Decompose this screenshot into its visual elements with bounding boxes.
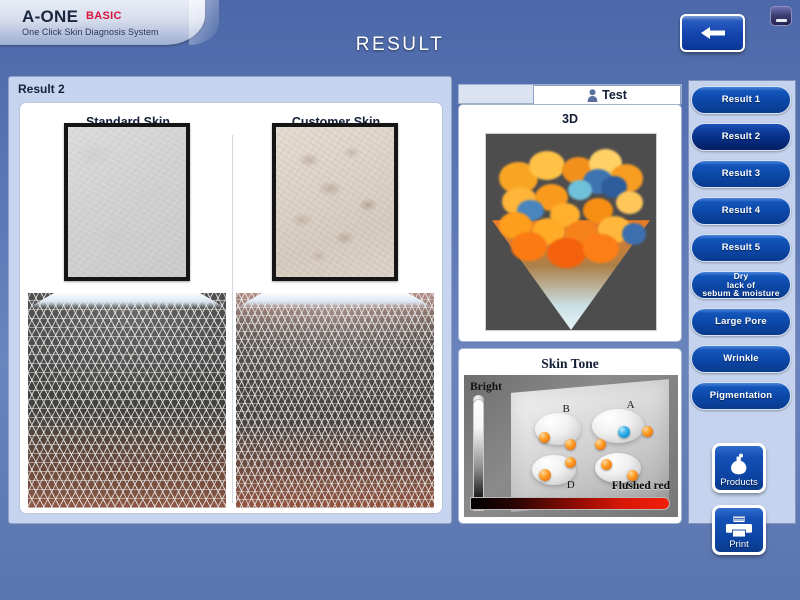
data-point xyxy=(601,459,612,470)
nav-label: Result 1 xyxy=(722,95,761,105)
nav-label: Dry lack of sebum & moisture xyxy=(702,272,779,299)
column-divider xyxy=(232,135,233,503)
bright-axis-gradient xyxy=(473,399,484,511)
sidebar-item-pigmentation[interactable]: Pigmentation xyxy=(691,382,791,410)
chart-floor xyxy=(511,379,669,512)
mesh-highlight xyxy=(236,293,434,508)
data-point xyxy=(539,432,550,443)
axis-label-bright: Bright xyxy=(470,381,502,393)
panel-3d-title: 3D xyxy=(459,112,681,126)
products-button[interactable]: Products xyxy=(712,443,766,493)
axis-label-flushed-red: Flushed red xyxy=(612,480,670,492)
products-label: Products xyxy=(715,477,763,488)
nav-label: Wrinkle xyxy=(723,354,759,364)
skin-3d-surface-render[interactable] xyxy=(485,133,657,331)
tab-strip: Test xyxy=(458,84,682,104)
panel-skin-tone-title: Skin Tone xyxy=(459,356,681,372)
nav-label: Result 3 xyxy=(722,169,761,179)
result-panel: Result 2 Standard Skin Customer Skin xyxy=(8,76,452,524)
sidebar-item-result-1[interactable]: Result 1 xyxy=(691,86,791,114)
print-label: Print xyxy=(715,539,763,550)
logo-name: A-ONE xyxy=(22,7,78,27)
logo-badge: BASIC xyxy=(86,10,122,22)
minimize-button[interactable] xyxy=(770,6,792,26)
sidebar-item-dry-sebum-moisture[interactable]: Dry lack of sebum & moisture xyxy=(691,271,791,299)
mesh-highlight xyxy=(28,293,226,508)
comparison-card: Standard Skin Customer Skin xyxy=(19,102,443,514)
sidebar-item-result-2[interactable]: Result 2 xyxy=(691,123,791,151)
title-bar: A-ONE BASIC One Click Skin Diagnosis Sys… xyxy=(0,0,800,72)
nav-label: Result 2 xyxy=(722,132,761,142)
nav-label: Pigmentation xyxy=(710,391,773,401)
sidebar-item-large-pore[interactable]: Large Pore xyxy=(691,308,791,336)
mesh-top-edge xyxy=(28,293,226,308)
standard-skin-photo[interactable] xyxy=(64,123,190,281)
sidebar-item-result-3[interactable]: Result 3 xyxy=(691,160,791,188)
analysis-panel: Test 3D xyxy=(458,84,682,524)
standard-skin-mesh[interactable] xyxy=(28,293,226,508)
tab-test[interactable]: Test xyxy=(533,85,681,105)
sidebar-item-result-4[interactable]: Result 4 xyxy=(691,197,791,225)
skin-tone-chart[interactable]: Bright B A D C Flushe xyxy=(464,375,678,517)
back-button[interactable] xyxy=(680,14,745,52)
surface-topography xyxy=(496,144,646,324)
panel-skin-tone: Skin Tone Bright B A D C xyxy=(458,348,682,524)
printer-icon xyxy=(726,515,752,539)
print-button[interactable]: Print xyxy=(712,505,766,555)
application-window: A-ONE BASIC One Click Skin Diagnosis Sys… xyxy=(0,0,800,600)
tab-test-label: Test xyxy=(602,88,627,102)
nav-label: Result 5 xyxy=(722,243,761,253)
result-group-title: Result 2 xyxy=(18,82,65,96)
panel-3d: 3D xyxy=(458,104,682,342)
nav-label: Result 4 xyxy=(722,206,761,216)
sidebar-item-wrinkle[interactable]: Wrinkle xyxy=(691,345,791,373)
customer-skin-photo[interactable] xyxy=(272,123,398,281)
customer-skin-mesh[interactable] xyxy=(236,293,434,508)
data-point xyxy=(595,439,606,450)
bottle-icon xyxy=(728,453,750,477)
user-icon xyxy=(587,89,598,102)
data-point xyxy=(565,457,576,468)
data-point xyxy=(642,426,653,437)
data-point xyxy=(565,439,576,450)
mesh-top-edge xyxy=(236,293,434,308)
sidebar-item-result-5[interactable]: Result 5 xyxy=(691,234,791,262)
data-point xyxy=(539,469,551,481)
navigation-sidebar: Result 1 Result 2 Result 3 Result 4 Resu… xyxy=(688,80,796,524)
nav-label: Large Pore xyxy=(715,317,767,327)
flushed-red-axis-gradient xyxy=(470,497,670,510)
back-arrow-icon xyxy=(700,26,726,40)
